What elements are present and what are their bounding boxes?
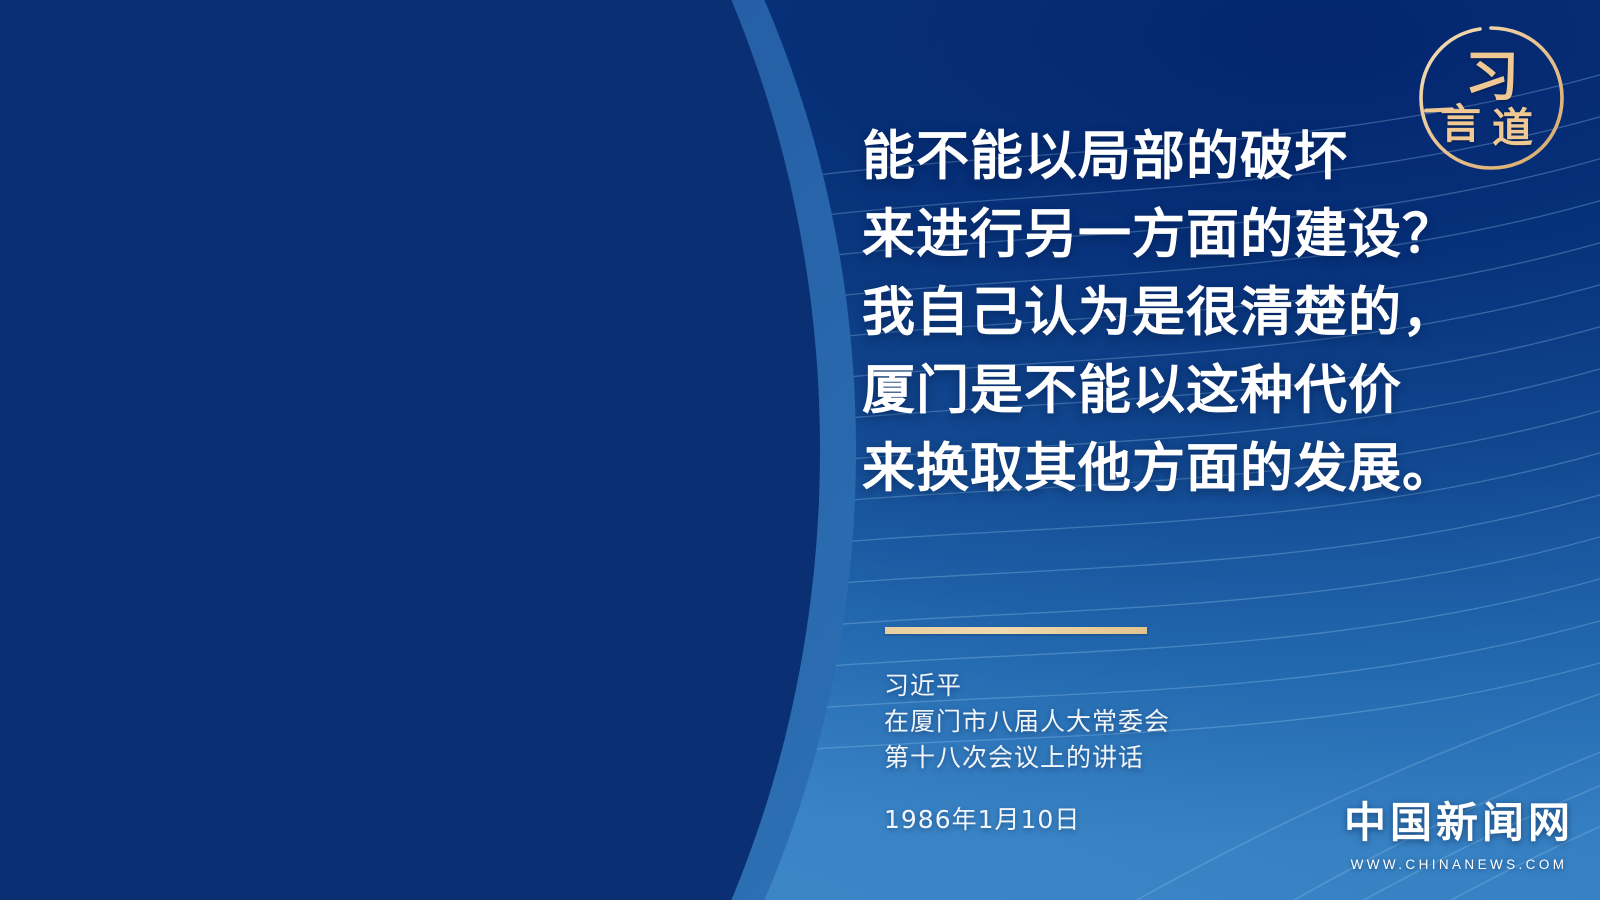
quote-line-2: 来进行另一方面的建设？ [862,196,1422,274]
occasion-line-2: 第十八次会议上的讲话 [884,740,1404,776]
attribution-block: 习近平 在厦门市八届人大常委会 第十八次会议上的讲话 1986年1月10日 [884,668,1404,836]
arc-band-inner-mask [0,0,880,900]
seal-char-yan: 言 [1440,90,1481,150]
series-seal-logo: 习 言 道 [1412,18,1570,176]
quote-line-5: 来换取其他方面的发展。 [862,430,1422,508]
quote-line-1: 能不能以局部的破坏 [862,118,1422,196]
speech-date: 1986年1月10日 [884,800,1404,836]
brand-name: 中国新闻网 [1344,789,1574,850]
quote-line-4: 厦门是不能以这种代价 [862,352,1422,430]
seal-char-dao: 道 [1492,94,1533,154]
gold-divider [885,627,1147,634]
chinanews-brand: 中国新闻网 WWW.CHINANEWS.COM [1344,789,1574,872]
occasion-line-1: 在厦门市八届人大常委会 [884,704,1404,740]
quote-line-3: 我自己认为是很清楚的， [862,274,1422,352]
quote-block: 能不能以局部的破坏 来进行另一方面的建设？ 我自己认为是很清楚的， 厦门是不能以… [862,118,1422,508]
poster-canvas: 习 言 道 能不能以局部的破坏 来进行另一方面的建设？ 我自己认为是很清楚的， … [0,0,1600,900]
speaker-name: 习近平 [884,668,1404,704]
brand-website: WWW.CHINANEWS.COM [1344,857,1574,872]
